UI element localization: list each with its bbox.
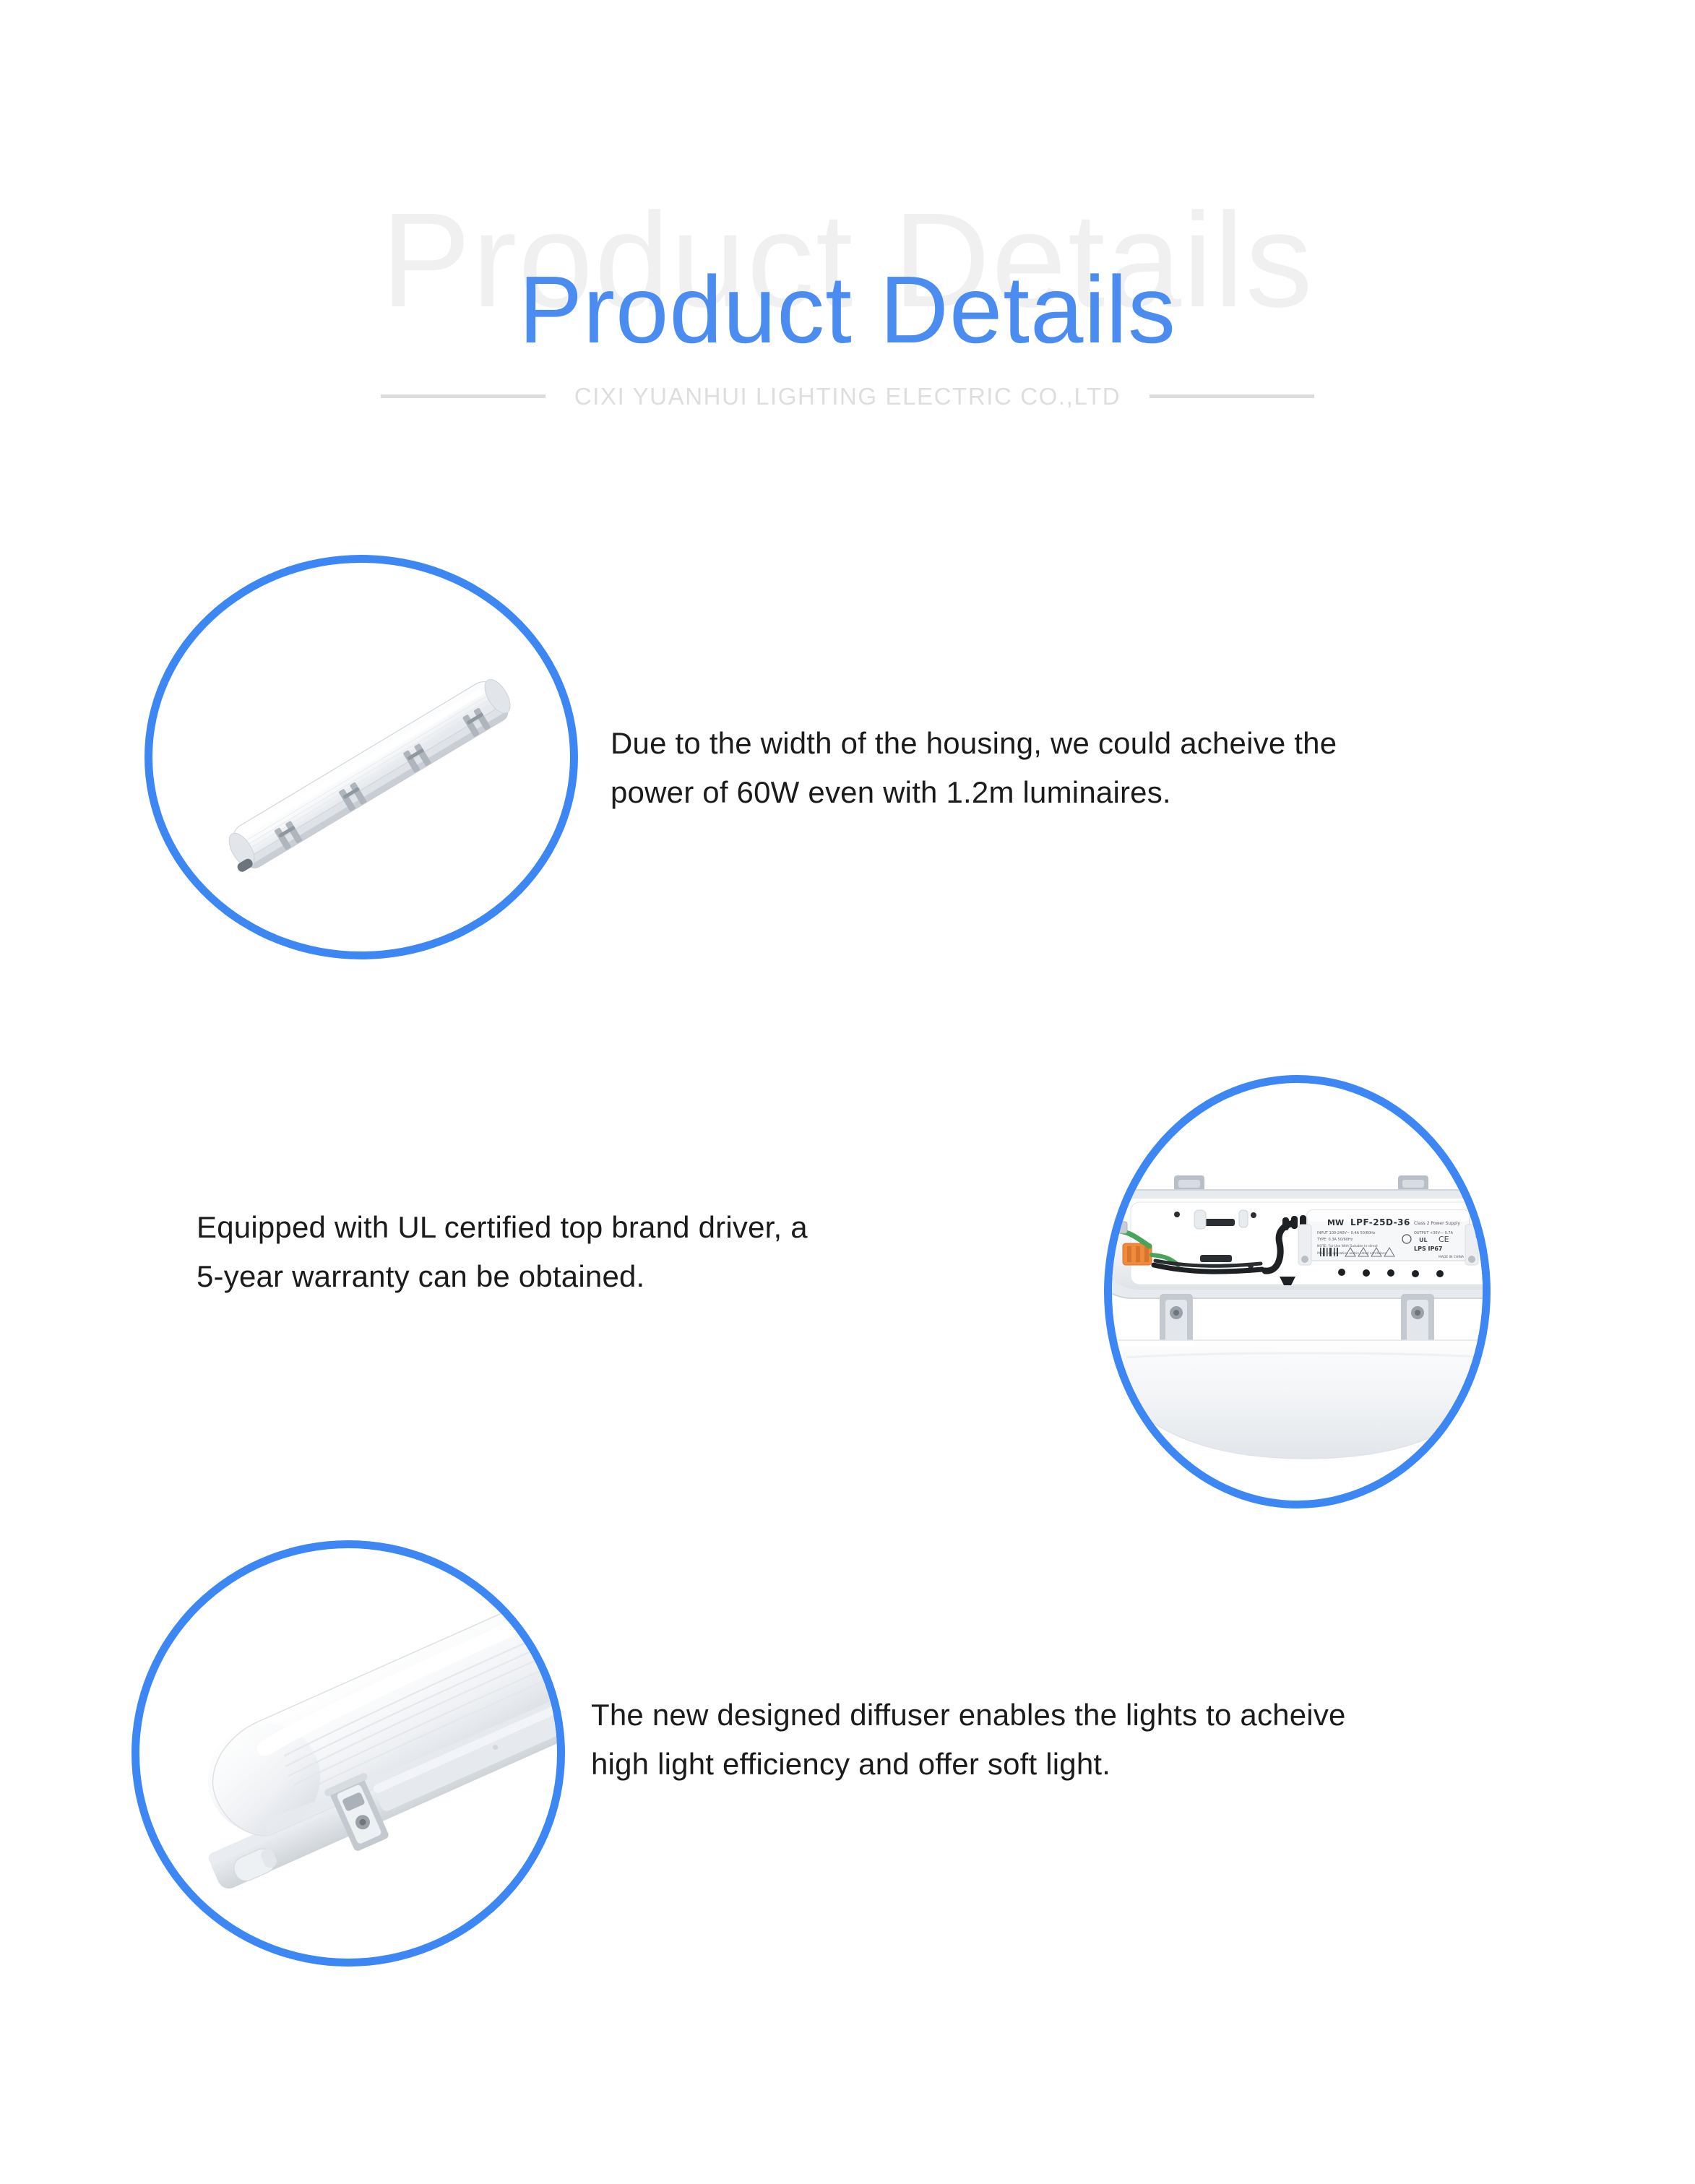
feature-text-1: Due to the width of the housing, we coul… [611, 719, 1571, 817]
feature-text-2-line-1: Equipped with UL certified top brand dri… [197, 1203, 1006, 1252]
page-header: Product Details Product Details CIXI YUA… [0, 0, 1695, 462]
feature-row-new-diffuser: The new designed diffuser enables the li… [0, 1524, 1695, 1987]
product-photo-diffuser-endcap [139, 1548, 557, 1959]
feature-text-1-line-1: Due to the width of the housing, we coul… [611, 719, 1571, 768]
svg-text:MAX. For operation within rate: MAX. For operation within rated conditio… [1317, 1251, 1387, 1256]
divider-right [1150, 394, 1314, 398]
feature-row-ul-driver: Equipped with UL certified top brand dri… [0, 1048, 1695, 1539]
product-photo-circle-1 [145, 555, 578, 959]
feature-text-3-line-2: high light efficiency and offer soft lig… [591, 1740, 1574, 1789]
svg-text:MW: MW [1327, 1218, 1344, 1227]
svg-text:TYPE: 0.3A 50/60Hz: TYPE: 0.3A 50/60Hz [1316, 1238, 1353, 1242]
svg-text:MADE IN CHINA: MADE IN CHINA [1439, 1255, 1465, 1259]
subtitle-row: CIXI YUANHUI LIGHTING ELECTRIC CO.,LTD [0, 384, 1695, 408]
product-photo-open-housing-driver: MW LPF-25D-36 Class 2 Power Supply INPUT… [1112, 1083, 1483, 1501]
divider-left [381, 394, 545, 398]
feature-text-1-line-2: power of 60W even with 1.2m luminaires. [611, 768, 1571, 817]
product-photo-angled-luminaire [152, 563, 570, 951]
svg-text:LPF-25D-36: LPF-25D-36 [1350, 1217, 1410, 1227]
feature-text-3: The new designed diffuser enables the li… [591, 1691, 1574, 1789]
svg-text:UL: UL [1419, 1237, 1428, 1243]
product-photo-circle-3 [131, 1540, 565, 1967]
svg-text:CE: CE [1439, 1235, 1449, 1244]
page-title: Product Details [0, 262, 1695, 358]
feature-text-2: Equipped with UL certified top brand dri… [197, 1203, 1006, 1301]
feature-text-2-line-2: 5-year warranty can be obtained. [197, 1252, 1006, 1301]
svg-text:INPUT 100-240V~ 0.4A 50/60Hz: INPUT 100-240V~ 0.4A 50/60Hz [1317, 1231, 1376, 1235]
company-subtitle: CIXI YUANHUI LIGHTING ELECTRIC CO.,LTD [574, 384, 1121, 408]
product-photo-circle-2: MW LPF-25D-36 Class 2 Power Supply INPUT… [1104, 1075, 1491, 1508]
svg-text:LPS IP67: LPS IP67 [1414, 1246, 1442, 1252]
svg-text:Class 2 Power Supply: Class 2 Power Supply [1414, 1221, 1460, 1226]
svg-text:NOTE: For Use With Suitable In: NOTE: For Use With Suitable In-direct [1317, 1244, 1378, 1248]
feature-text-3-line-1: The new designed diffuser enables the li… [591, 1691, 1574, 1740]
feature-row-housing-width: Due to the width of the housing, we coul… [0, 535, 1695, 997]
